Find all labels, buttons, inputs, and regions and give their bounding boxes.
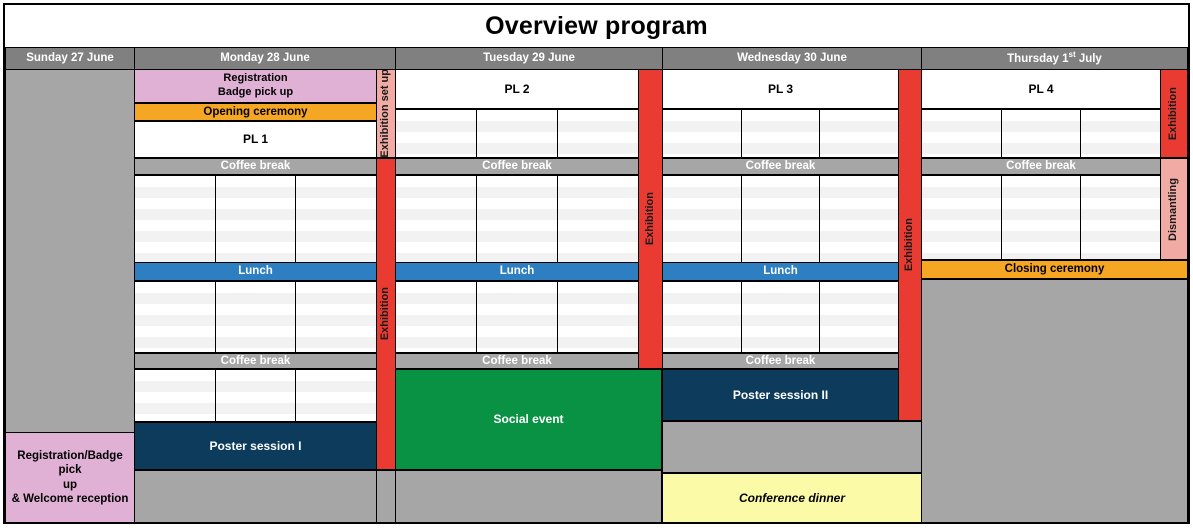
wednesday-coffee-break-morning: Coffee break xyxy=(662,158,899,175)
coffee-break-label: Coffee break xyxy=(221,354,291,368)
coffee-break-label: Coffee break xyxy=(482,354,552,368)
badge-pickup-label: Badge pick up xyxy=(218,86,293,100)
wednesday-empty-block xyxy=(662,421,922,473)
tuesday-coffee-break-morning: Coffee break xyxy=(395,158,639,175)
monday-exhibition-strip: Exhibition xyxy=(376,158,396,470)
registration-label: Registration xyxy=(223,72,287,86)
session-column[interactable] xyxy=(663,176,742,262)
exhibition-label: Exhibition xyxy=(379,287,393,340)
coffee-break-label: Coffee break xyxy=(746,354,816,368)
monday-coffee-break-afternoon: Coffee break xyxy=(134,353,377,369)
session-column[interactable] xyxy=(1002,110,1082,157)
wednesday-exhibition-strip: Exhibition xyxy=(898,69,922,421)
wednesday-poster-session-2: Poster session II xyxy=(662,369,899,421)
session-column[interactable] xyxy=(1002,176,1082,259)
day-header-sunday: Sunday 27 June xyxy=(5,47,135,70)
coffee-break-label: Coffee break xyxy=(221,159,291,173)
wednesday-parallel-sessions-early[interactable] xyxy=(662,109,899,158)
tuesday-social-event: Social event xyxy=(395,369,662,470)
session-column[interactable] xyxy=(742,176,821,262)
session-column[interactable] xyxy=(820,282,898,352)
session-column[interactable] xyxy=(216,370,297,421)
session-column[interactable] xyxy=(135,370,216,421)
monday-parallel-sessions-late[interactable] xyxy=(134,369,377,422)
session-column[interactable] xyxy=(296,176,376,262)
day-header-sunday-label: Sunday 27 June xyxy=(26,51,114,65)
pl3-label: PL 3 xyxy=(768,82,793,97)
session-column[interactable] xyxy=(663,110,742,157)
monday-coffee-break-morning: Coffee break xyxy=(134,158,377,175)
tuesday-coffee-break-afternoon: Coffee break xyxy=(395,353,639,369)
wednesday-parallel-sessions-afternoon[interactable] xyxy=(662,281,899,353)
dismantling-label: Dismantling xyxy=(1167,178,1181,241)
closing-ceremony-label: Closing ceremony xyxy=(1005,262,1105,276)
thursday-parallel-sessions-morning[interactable] xyxy=(921,175,1161,260)
monday-opening-ceremony: Opening ceremony xyxy=(134,103,377,121)
monday-parallel-sessions-morning[interactable] xyxy=(134,175,377,263)
session-column[interactable] xyxy=(296,370,376,421)
tuesday-parallel-sessions-afternoon[interactable] xyxy=(395,281,639,353)
exhibition-label: Exhibition xyxy=(903,218,917,271)
session-column[interactable] xyxy=(820,110,898,157)
thursday-empty-block xyxy=(921,279,1188,523)
monday-parallel-sessions-afternoon[interactable] xyxy=(134,281,377,353)
exhibition-setup-label: Exhibition set up xyxy=(379,69,393,158)
monday-lunch: Lunch xyxy=(134,262,377,281)
lunch-label: Lunch xyxy=(238,264,273,278)
wednesday-parallel-sessions-morning[interactable] xyxy=(662,175,899,263)
session-column[interactable] xyxy=(477,282,558,352)
session-column[interactable] xyxy=(558,282,638,352)
day-header-thursday-label: Thursday 1st July xyxy=(1007,50,1102,66)
exhibition-label: Exhibition xyxy=(1167,87,1181,140)
welcome-line-2: up xyxy=(63,478,77,492)
session-column[interactable] xyxy=(1081,110,1160,157)
session-column[interactable] xyxy=(396,110,477,157)
tuesday-parallel-sessions-early[interactable] xyxy=(395,109,639,158)
session-column[interactable] xyxy=(396,282,477,352)
thursday-exhibition-strip: Exhibition xyxy=(1160,69,1188,158)
coffee-break-label: Coffee break xyxy=(1006,159,1076,173)
wednesday-conference-dinner: Conference dinner xyxy=(662,473,922,523)
coffee-break-label: Coffee break xyxy=(482,159,552,173)
day-header-monday-label: Monday 28 June xyxy=(220,51,309,65)
session-column[interactable] xyxy=(216,176,297,262)
poster-session-2-label: Poster session II xyxy=(733,388,828,403)
monday-poster-session-1: Poster session I xyxy=(134,422,377,470)
session-column[interactable] xyxy=(135,282,216,352)
session-column[interactable] xyxy=(922,110,1002,157)
session-column[interactable] xyxy=(742,282,821,352)
opening-ceremony-label: Opening ceremony xyxy=(203,105,307,119)
session-column[interactable] xyxy=(1081,176,1160,259)
session-column[interactable] xyxy=(477,176,558,262)
monday-exhibition-strip-empty xyxy=(376,470,396,523)
session-column[interactable] xyxy=(742,110,821,157)
pl4-label: PL 4 xyxy=(1028,82,1053,97)
session-column[interactable] xyxy=(820,176,898,262)
session-column[interactable] xyxy=(296,282,376,352)
lunch-label: Lunch xyxy=(763,264,798,278)
thursday-closing-ceremony: Closing ceremony xyxy=(921,260,1188,279)
page-title-bar: Overview program xyxy=(5,5,1188,47)
pl2-label: PL 2 xyxy=(504,82,529,97)
monday-registration-badge-pickup: Registration Badge pick up xyxy=(134,69,377,103)
session-column[interactable] xyxy=(135,176,216,262)
day-header-tuesday: Tuesday 29 June xyxy=(395,47,663,70)
day-header-wednesday-label: Wednesday 30 June xyxy=(737,51,847,65)
wednesday-lunch: Lunch xyxy=(662,262,899,281)
monday-plenary-1: PL 1 xyxy=(134,121,377,158)
session-column[interactable] xyxy=(396,176,477,262)
wednesday-plenary-3: PL 3 xyxy=(662,69,899,109)
welcome-line-1: Registration/Badge pick xyxy=(6,449,134,478)
thursday-plenary-4: PL 4 xyxy=(921,69,1161,109)
sunday-empty-block xyxy=(5,69,135,433)
session-column[interactable] xyxy=(558,176,638,262)
tuesday-plenary-2: PL 2 xyxy=(395,69,639,109)
session-column[interactable] xyxy=(663,282,742,352)
sunday-registration-welcome-reception: Registration/Badge pick up & Welcome rec… xyxy=(5,432,135,523)
thursday-coffee-break-morning: Coffee break xyxy=(921,158,1161,175)
wednesday-coffee-break-afternoon: Coffee break xyxy=(662,353,899,369)
day-header-wednesday: Wednesday 30 June xyxy=(662,47,922,70)
tuesday-parallel-sessions-morning[interactable] xyxy=(395,175,639,263)
page-title: Overview program xyxy=(485,12,708,41)
tuesday-exhibition-strip: Exhibition xyxy=(638,69,663,369)
monday-exhibition-setup-strip: Exhibition set up xyxy=(376,69,396,158)
social-event-label: Social event xyxy=(493,412,563,427)
pl1-label: PL 1 xyxy=(243,132,268,147)
tuesday-empty-evening xyxy=(395,470,662,523)
day-header-monday: Monday 28 June xyxy=(134,47,396,70)
lunch-label: Lunch xyxy=(500,264,535,278)
coffee-break-label: Coffee break xyxy=(746,159,816,173)
session-column[interactable] xyxy=(922,176,1002,259)
monday-empty-evening xyxy=(134,470,377,523)
thursday-parallel-sessions-early[interactable] xyxy=(921,109,1161,158)
tuesday-lunch: Lunch xyxy=(395,262,639,281)
exhibition-label: Exhibition xyxy=(644,192,658,245)
session-column[interactable] xyxy=(558,110,638,157)
session-column[interactable] xyxy=(216,282,297,352)
thursday-dismantling-strip: Dismantling xyxy=(1160,158,1188,260)
day-header-tuesday-label: Tuesday 29 June xyxy=(483,51,575,65)
overview-program-page: Overview program Sunday 27 June Monday 2… xyxy=(0,0,1193,528)
conference-dinner-label: Conference dinner xyxy=(739,491,845,506)
welcome-line-3: & Welcome reception xyxy=(12,492,129,506)
poster-session-1-label: Poster session I xyxy=(209,439,301,454)
session-column[interactable] xyxy=(477,110,558,157)
day-header-thursday: Thursday 1st July xyxy=(921,47,1188,70)
